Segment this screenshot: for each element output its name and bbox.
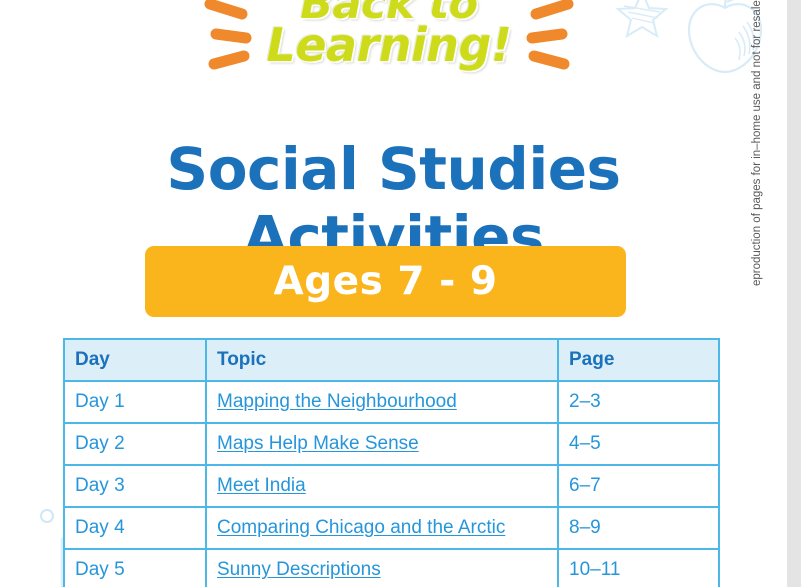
cell-day: Day 1 — [64, 381, 206, 423]
table-row: Day 5 Sunny Descriptions 10–11 — [64, 549, 719, 587]
activity-schedule-table: Day Topic Page Day 1 Mapping the Neighbo… — [63, 338, 720, 587]
age-range-banner: Ages 7 - 9 — [145, 246, 626, 317]
logo-line-two: Learning! — [196, 24, 582, 67]
page-title-line-one: Social Studies — [0, 135, 787, 203]
cell-topic: Mapping the Neighbourhood — [206, 381, 558, 423]
topic-link[interactable]: Comparing Chicago and the Arctic — [217, 517, 505, 538]
topic-link[interactable]: Meet India — [217, 475, 306, 496]
table-row: Day 4 Comparing Chicago and the Arctic 8… — [64, 507, 719, 549]
table-row: Day 1 Mapping the Neighbourhood 2–3 — [64, 381, 719, 423]
cell-day: Day 4 — [64, 507, 206, 549]
topic-link[interactable]: Sunny Descriptions — [217, 559, 381, 580]
copyright-notice: eproduction of pages for in–home use and… — [751, 0, 763, 286]
star-sketch-icon — [616, 0, 668, 38]
page-edge-strip — [787, 0, 801, 587]
cell-day: Day 3 — [64, 465, 206, 507]
cell-topic: Meet India — [206, 465, 558, 507]
column-header-topic: Topic — [206, 339, 558, 381]
cell-day: Day 2 — [64, 423, 206, 465]
cell-page: 2–3 — [558, 381, 719, 423]
topic-link[interactable]: Maps Help Make Sense — [217, 433, 419, 454]
cell-page: 10–11 — [558, 549, 719, 587]
back-to-learning-logo: Back to Learning! — [196, 0, 582, 104]
topic-link[interactable]: Mapping the Neighbourhood — [217, 391, 457, 412]
column-header-day: Day — [64, 339, 206, 381]
age-range-label: Ages 7 - 9 — [274, 259, 498, 304]
table-header-row: Day Topic Page — [64, 339, 719, 381]
cell-page: 8–9 — [558, 507, 719, 549]
circle-doodle-icon — [40, 509, 54, 523]
table-row: Day 3 Meet India 6–7 — [64, 465, 719, 507]
cell-topic: Maps Help Make Sense — [206, 423, 558, 465]
cell-day: Day 5 — [64, 549, 206, 587]
worksheet-page: Back to Learning! Social Studies Activit… — [0, 0, 801, 587]
cell-topic: Comparing Chicago and the Arctic — [206, 507, 558, 549]
cell-topic: Sunny Descriptions — [206, 549, 558, 587]
table-row: Day 2 Maps Help Make Sense 4–5 — [64, 423, 719, 465]
column-header-page: Page — [558, 339, 719, 381]
cell-page: 6–7 — [558, 465, 719, 507]
logo-wordmark: Back to Learning! — [196, 0, 582, 67]
cell-page: 4–5 — [558, 423, 719, 465]
